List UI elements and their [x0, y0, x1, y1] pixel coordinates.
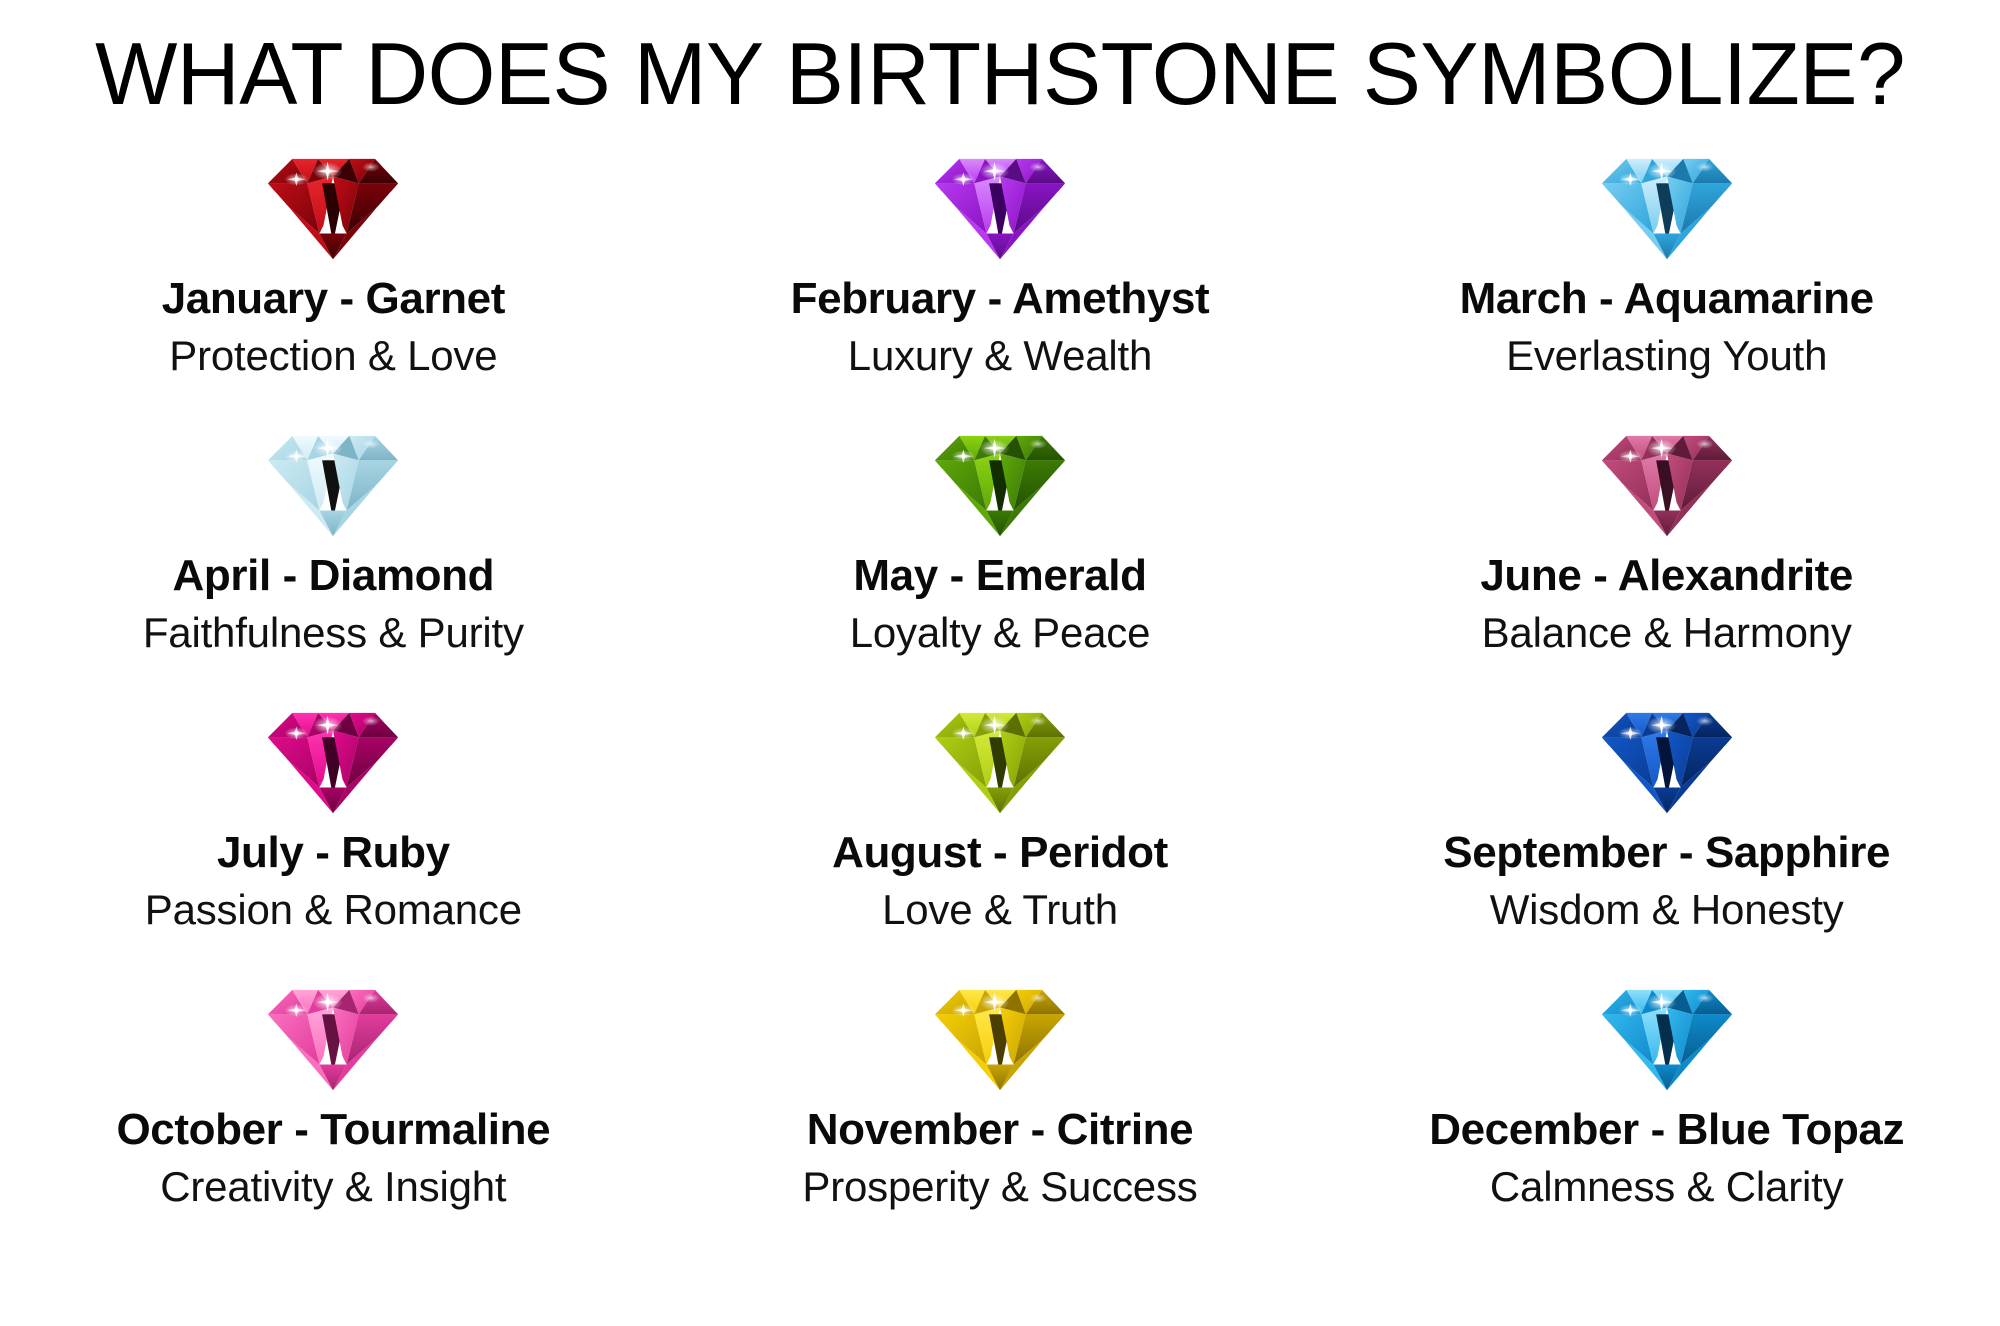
birthstone-name: July - Ruby	[217, 830, 450, 877]
birthstone-meaning: Balance & Harmony	[1482, 610, 1852, 655]
infographic-page: WHAT DOES MY BIRTHSTONE SYMBOLIZE?	[0, 0, 2000, 1326]
birthstone-name: October - Tourmaline	[116, 1107, 550, 1154]
birthstone-meaning: Everlasting Youth	[1506, 333, 1827, 378]
gem-icon	[265, 698, 401, 816]
birthstone-card-june: June - AlexandriteBalance & Harmony	[1333, 417, 2000, 694]
gem-icon	[1599, 698, 1735, 816]
birthstone-meaning: Prosperity & Success	[802, 1164, 1197, 1209]
page-title: WHAT DOES MY BIRTHSTONE SYMBOLIZE?	[10, 0, 1990, 118]
birthstone-card-april: April - DiamondFaithfulness & Purity	[0, 417, 667, 694]
gem-icon	[265, 421, 401, 539]
birthstone-card-september: September - SapphireWisdom & Honesty	[1333, 694, 2000, 971]
birthstone-name: March - Aquamarine	[1460, 276, 1874, 323]
gem-icon	[932, 975, 1068, 1093]
birthstone-name: December - Blue Topaz	[1429, 1107, 1904, 1154]
gem-icon	[932, 144, 1068, 262]
birthstone-name: June - Alexandrite	[1480, 553, 1853, 600]
birthstone-name: May - Emerald	[853, 553, 1146, 600]
birthstone-name: April - Diamond	[173, 553, 495, 600]
birthstone-meaning: Loyalty & Peace	[850, 610, 1151, 655]
birthstone-grid: January - GarnetProtection & Love	[0, 140, 2000, 1248]
birthstone-meaning: Protection & Love	[169, 333, 497, 378]
birthstone-card-august: August - PeridotLove & Truth	[667, 694, 1334, 971]
birthstone-meaning: Faithfulness & Purity	[143, 610, 524, 655]
birthstone-card-march: March - AquamarineEverlasting Youth	[1333, 140, 2000, 417]
birthstone-name: September - Sapphire	[1443, 830, 1890, 877]
gem-icon	[1599, 975, 1735, 1093]
gem-icon	[932, 421, 1068, 539]
birthstone-name: August - Peridot	[832, 830, 1168, 877]
birthstone-card-may: May - EmeraldLoyalty & Peace	[667, 417, 1334, 694]
birthstone-card-july: July - RubyPassion & Romance	[0, 694, 667, 971]
gem-icon	[932, 698, 1068, 816]
birthstone-meaning: Passion & Romance	[145, 887, 522, 932]
birthstone-card-november: November - CitrineProsperity & Success	[667, 971, 1334, 1248]
birthstone-meaning: Wisdom & Honesty	[1490, 887, 1844, 932]
birthstone-card-december: December - Blue TopazCalmness & Clarity	[1333, 971, 2000, 1248]
gem-icon	[265, 975, 401, 1093]
birthstone-name: February - Amethyst	[791, 276, 1210, 323]
birthstone-card-february: February - AmethystLuxury & Wealth	[667, 140, 1334, 417]
birthstone-meaning: Calmness & Clarity	[1490, 1164, 1843, 1209]
birthstone-card-january: January - GarnetProtection & Love	[0, 140, 667, 417]
gem-icon	[1599, 421, 1735, 539]
birthstone-meaning: Luxury & Wealth	[848, 333, 1152, 378]
birthstone-meaning: Creativity & Insight	[160, 1164, 506, 1209]
birthstone-card-october: October - TourmalineCreativity & Insight	[0, 971, 667, 1248]
birthstone-name: January - Garnet	[162, 276, 505, 323]
birthstone-meaning: Love & Truth	[882, 887, 1118, 932]
gem-icon	[1599, 144, 1735, 262]
gem-icon	[265, 144, 401, 262]
birthstone-name: November - Citrine	[807, 1107, 1193, 1154]
